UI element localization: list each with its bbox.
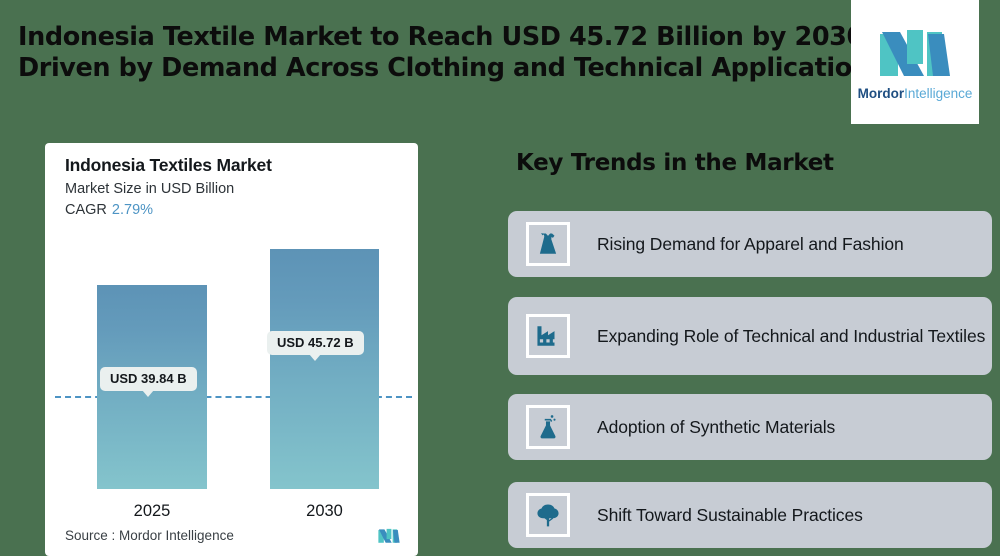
trend-label: Adoption of Synthetic Materials — [597, 415, 835, 440]
chart-title: Indonesia Textiles Market — [65, 155, 272, 176]
chart-subtitle: Market Size in USD Billion — [65, 181, 234, 197]
bar-2030 — [270, 249, 379, 489]
trend-card-apparel[interactable]: Rising Demand for Apparel and Fashion — [508, 211, 992, 277]
axis-label-2025: 2025 — [97, 502, 207, 521]
bar-chart-plot: USD 39.84 B USD 45.72 B 2025 2030 — [45, 239, 418, 529]
page-title: Indonesia Textile Market to Reach USD 45… — [18, 22, 828, 84]
trend-card-technical-textiles[interactable]: Expanding Role of Technical and Industri… — [508, 297, 992, 375]
brand-logo: MordorIntelligence — [851, 0, 979, 124]
chart-source-row: Source : Mordor Intelligence — [65, 522, 402, 548]
headline-line-1: Indonesia Textile Market to Reach USD 45… — [18, 22, 828, 53]
chart-panel: Indonesia Textiles Market Market Size in… — [45, 143, 418, 556]
trend-label: Rising Demand for Apparel and Fashion — [597, 232, 904, 257]
infographic-canvas: Indonesia Textile Market to Reach USD 45… — [0, 0, 1000, 556]
cagr-label: CAGR — [65, 202, 107, 218]
trend-label: Expanding Role of Technical and Industri… — [597, 324, 985, 349]
data-label-2030: USD 45.72 B — [267, 331, 364, 355]
data-label-2025: USD 39.84 B — [100, 367, 197, 391]
logo-word-secondary: Intelligence — [904, 86, 972, 101]
mordor-logo-mark-small — [376, 527, 402, 544]
axis-label-2030: 2030 — [270, 502, 379, 521]
trend-label: Shift Toward Sustainable Practices — [597, 503, 863, 528]
source-text: Source : Mordor Intelligence — [65, 528, 234, 543]
mordor-logo-mark — [878, 24, 952, 80]
trend-card-synthetic-materials[interactable]: Adoption of Synthetic Materials — [508, 394, 992, 460]
logo-wordmark: MordorIntelligence — [858, 86, 973, 101]
factory-icon — [526, 314, 570, 358]
chart-cagr: CAGR2.79% — [65, 202, 153, 218]
flask-icon — [526, 405, 570, 449]
tree-icon — [526, 493, 570, 537]
dress-icon — [526, 222, 570, 266]
trends-heading: Key Trends in the Market — [516, 150, 834, 176]
cagr-value: 2.79% — [112, 202, 153, 218]
trend-card-sustainable-practices[interactable]: Shift Toward Sustainable Practices — [508, 482, 992, 548]
logo-word-primary: Mordor — [858, 86, 905, 101]
headline-line-2: Driven by Demand Across Clothing and Tec… — [18, 53, 828, 84]
